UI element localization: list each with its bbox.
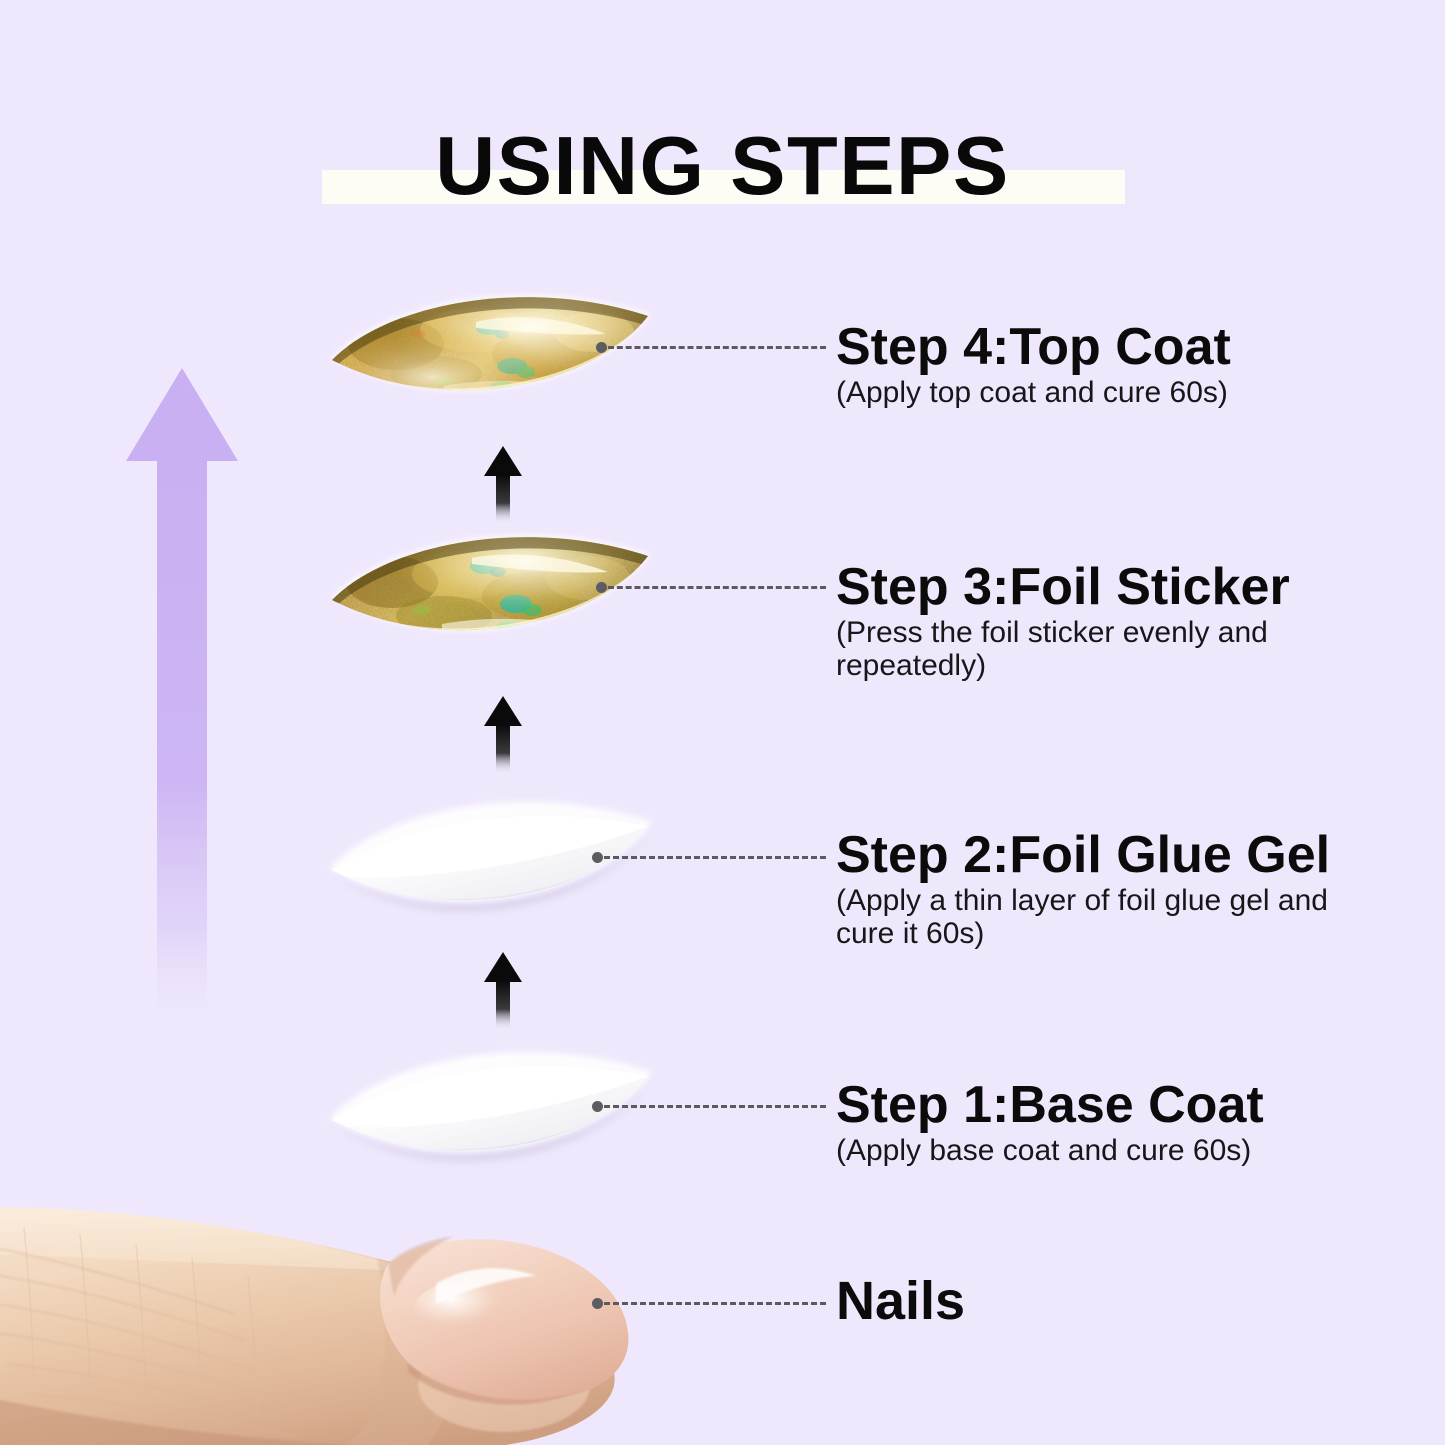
flow-arrow-up-icon: [480, 446, 526, 524]
leader-dot: [592, 852, 603, 863]
step-4-title: Step 4:Top Coat: [836, 318, 1231, 376]
leader-line-step-4: [596, 337, 826, 357]
leader-dash: [604, 856, 826, 859]
leader-line-nails: [592, 1293, 826, 1313]
leader-line-step-1: [592, 1096, 826, 1116]
using-steps-infographic: USING STEPS: [0, 0, 1445, 1445]
leader-dash: [608, 346, 826, 349]
step-3-subtitle: (Press the foil sticker evenly and repea…: [836, 616, 1356, 682]
label-step-4: Step 4:Top Coat (Apply top coat and cure…: [836, 318, 1231, 409]
leader-line-step-2: [592, 847, 826, 867]
leader-line-step-3: [596, 577, 826, 597]
leader-dash: [604, 1105, 826, 1108]
progress-arrow-icon: [122, 366, 242, 1046]
leader-dot: [592, 1101, 603, 1112]
step-3-title: Step 3:Foil Sticker: [836, 558, 1356, 616]
step-1-title: Step 1:Base Coat: [836, 1076, 1264, 1134]
leader-dash: [604, 1302, 826, 1305]
leader-dot: [596, 342, 607, 353]
step-4-subtitle: (Apply top coat and cure 60s): [836, 376, 1231, 409]
label-step-2: Step 2:Foil Glue Gel (Apply a thin layer…: [836, 826, 1356, 950]
page-title: USING STEPS: [0, 118, 1445, 214]
page-title-group: USING STEPS: [0, 118, 1445, 228]
step-2-subtitle: (Apply a thin layer of foil glue gel and…: [836, 884, 1356, 950]
flow-arrow-up-icon: [480, 952, 526, 1030]
leader-dash: [608, 586, 826, 589]
label-nails: Nails: [836, 1272, 965, 1330]
step-2-title: Step 2:Foil Glue Gel: [836, 826, 1356, 884]
fingertip-photo: [0, 1172, 664, 1445]
nails-title: Nails: [836, 1272, 965, 1330]
leader-dot: [596, 582, 607, 593]
label-step-3: Step 3:Foil Sticker (Press the foil stic…: [836, 558, 1356, 682]
label-step-1: Step 1:Base Coat (Apply base coat and cu…: [836, 1076, 1264, 1167]
step-1-subtitle: (Apply base coat and cure 60s): [836, 1134, 1264, 1167]
leader-dot: [592, 1298, 603, 1309]
flow-arrow-up-icon: [480, 696, 526, 774]
